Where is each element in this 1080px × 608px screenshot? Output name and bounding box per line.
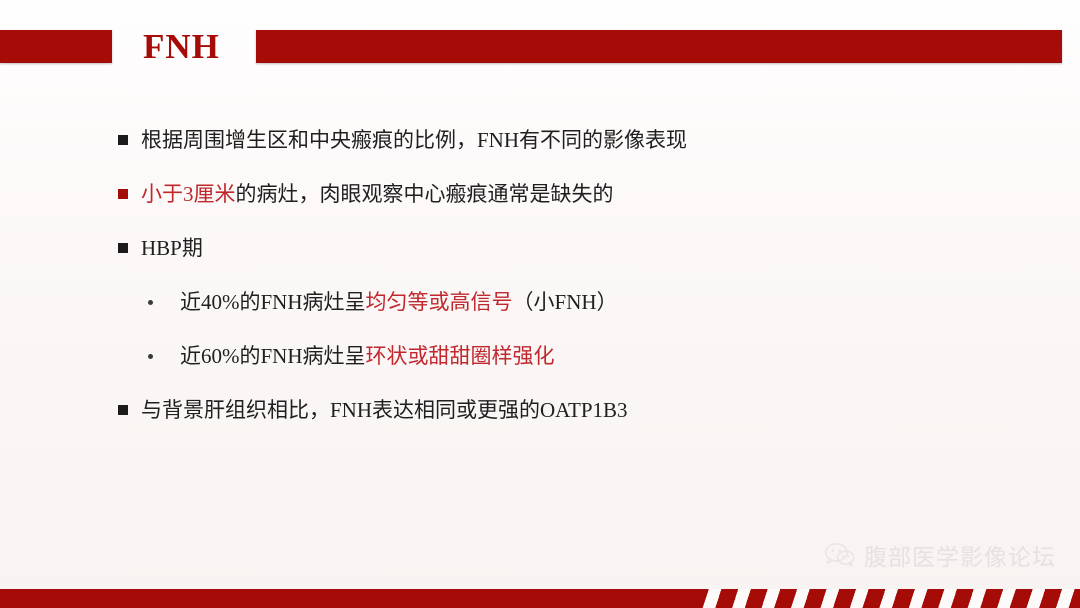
page-title: FNH <box>143 24 220 70</box>
bullet-item: 小于3厘米的病灶，肉眼观察中心瘢痕通常是缺失的 <box>0 178 1080 232</box>
text-segment: ） <box>597 291 618 314</box>
bullet-square-marker <box>118 189 128 199</box>
bullet-item: 根据周围增生区和中央瘢痕的比例，FNH有不同的影像表现 <box>0 124 1080 178</box>
bottom-solid-segment <box>0 589 692 608</box>
bullet-square-marker <box>118 135 128 145</box>
text-highlight: 小于 <box>141 183 183 206</box>
bullet-text: 根据周围增生区和中央瘢痕的比例，FNH有不同的影像表现 <box>141 124 687 157</box>
text-segment: 期 <box>182 237 203 260</box>
wechat-icon <box>825 542 855 568</box>
bullet-text: 近40%的FNH病灶呈均匀等或高信号（小FNH） <box>180 286 618 319</box>
header-accent-block-left <box>0 30 112 63</box>
text-highlight: 厘米 <box>194 183 236 206</box>
text-segment: FNH <box>477 128 519 152</box>
bottom-decoration-bar <box>0 589 1080 608</box>
bullet-dot-marker <box>148 354 153 359</box>
text-segment: 的 <box>240 291 261 314</box>
text-segment: 与背景肝组织相比， <box>141 399 330 422</box>
slide-canvas: FNH 根据周围增生区和中央瘢痕的比例，FNH有不同的影像表现小于3厘米的病灶，… <box>0 0 1080 608</box>
text-segment: 病灶呈 <box>303 345 366 368</box>
text-segment: FNH <box>330 398 372 422</box>
bullet-text: HBP期 <box>141 232 203 265</box>
bullet-square-marker <box>118 405 128 415</box>
text-segment: HBP <box>141 236 182 260</box>
header-accent-block-right <box>256 30 1062 63</box>
bullet-dot-marker <box>148 300 153 305</box>
bullet-text: 小于3厘米的病灶，肉眼观察中心瘢痕通常是缺失的 <box>141 178 614 211</box>
bullet-item: 与背景肝组织相比，FNH表达相同或更强的OATP1B3 <box>0 394 1080 448</box>
text-segment: FNH <box>261 344 303 368</box>
text-segment: 60% <box>201 344 240 368</box>
text-segment: （小 <box>513 291 555 314</box>
bullet-item: HBP期 <box>0 232 1080 286</box>
bullet-list: 根据周围增生区和中央瘢痕的比例，FNH有不同的影像表现小于3厘米的病灶，肉眼观察… <box>0 124 1080 448</box>
text-highlight: 环状或甜甜圈样强化 <box>366 345 555 368</box>
text-segment: FNH <box>261 290 303 314</box>
text-segment: 表达相同或更强的 <box>372 399 540 422</box>
bullet-square-marker <box>118 243 128 253</box>
text-segment: 的病灶，肉眼观察中心瘢痕通常是缺失的 <box>236 183 614 206</box>
text-segment: 40% <box>201 290 240 314</box>
text-segment: 近 <box>180 345 201 368</box>
watermark: 腹部医学影像论坛 <box>825 538 1056 572</box>
slide-header: FNH <box>0 30 1080 63</box>
bullet-text: 近60%的FNH病灶呈环状或甜甜圈样强化 <box>180 340 555 373</box>
text-segment: 病灶呈 <box>303 291 366 314</box>
text-segment: 有不同的影像表现 <box>519 129 687 152</box>
bullet-text: 与背景肝组织相比，FNH表达相同或更强的OATP1B3 <box>141 394 628 427</box>
bottom-striped-segment <box>692 589 1080 608</box>
bullet-item: 近40%的FNH病灶呈均匀等或高信号（小FNH） <box>0 286 1080 340</box>
text-segment: 近 <box>180 291 201 314</box>
text-segment: OATP1B3 <box>540 398 628 422</box>
text-highlight: 均匀等或高信号 <box>366 291 513 314</box>
text-segment: 的 <box>240 345 261 368</box>
text-highlight: 3 <box>183 182 194 206</box>
bullet-item: 近60%的FNH病灶呈环状或甜甜圈样强化 <box>0 340 1080 394</box>
text-segment: FNH <box>555 290 597 314</box>
text-segment: 根据周围增生区和中央瘢痕的比例， <box>141 129 477 152</box>
watermark-text: 腹部医学影像论坛 <box>864 538 1056 572</box>
